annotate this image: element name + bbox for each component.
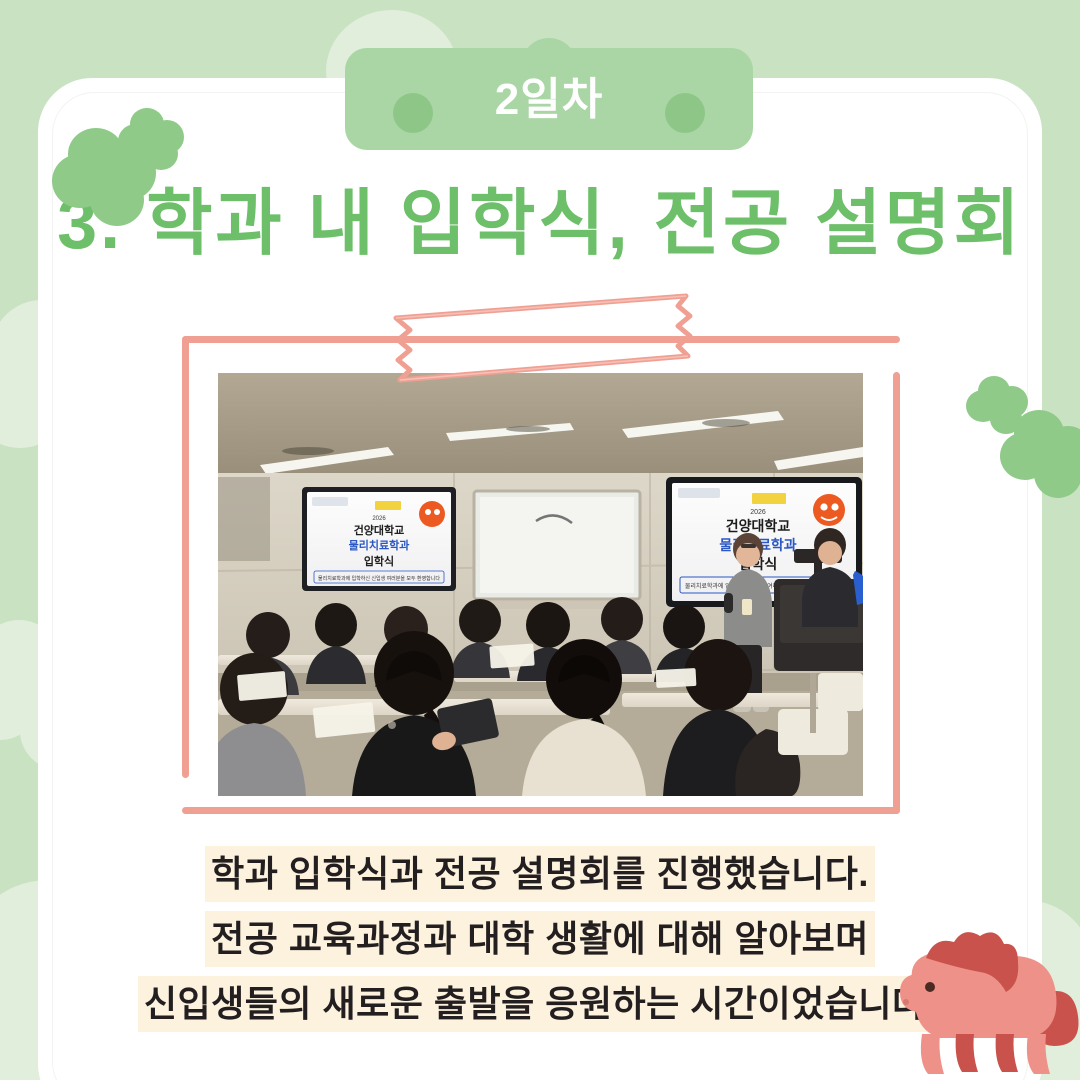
frame-line-right	[893, 372, 900, 814]
event-photo: 2026 건양대학교 물리치료학과 입학식 물리치료학과에 입학하신 신입생 여…	[218, 373, 863, 796]
event-photo-illustration: 2026 건양대학교 물리치료학과 입학식 물리치료학과에 입학하신 신입생 여…	[218, 373, 863, 796]
caption-block: 학과 입학식과 전공 설명회를 진행했습니다. 전공 교육과정과 대학 생활에 …	[0, 846, 1080, 1041]
svg-text:건양대학교: 건양대학교	[726, 518, 791, 534]
day-badge: 2일차	[345, 38, 753, 150]
svg-text:건양대학교: 건양대학교	[354, 523, 405, 537]
svg-text:입학식: 입학식	[364, 554, 394, 568]
svg-text:2026: 2026	[372, 516, 386, 522]
svg-text:물리치료학과: 물리치료학과	[349, 538, 410, 552]
frame-line-top	[182, 336, 900, 343]
caption-line-3: 신입생들의 새로운 출발을 응원하는 시간이었습니다.	[138, 976, 942, 1032]
svg-text:2026: 2026	[750, 509, 766, 516]
caption-line-1: 학과 입학식과 전공 설명회를 진행했습니다.	[205, 846, 875, 902]
frame-line-left	[182, 336, 189, 778]
card-canvas: 2일차 3. 학과 내 입학식, 전공 설명회	[0, 0, 1080, 1080]
caption-line-2: 전공 교육과정과 대학 생활에 대해 알아보며	[205, 911, 875, 967]
frame-line-bottom	[182, 807, 900, 814]
page-title: 3. 학과 내 입학식, 전공 설명회	[0, 178, 1080, 270]
day-badge-label: 2일차	[345, 74, 753, 126]
svg-text:물리치료학과에 입학하신 신입생 여러분을 모두 환영합니다: 물리치료학과에 입학하신 신입생 여러분을 모두 환영합니다	[318, 575, 440, 582]
